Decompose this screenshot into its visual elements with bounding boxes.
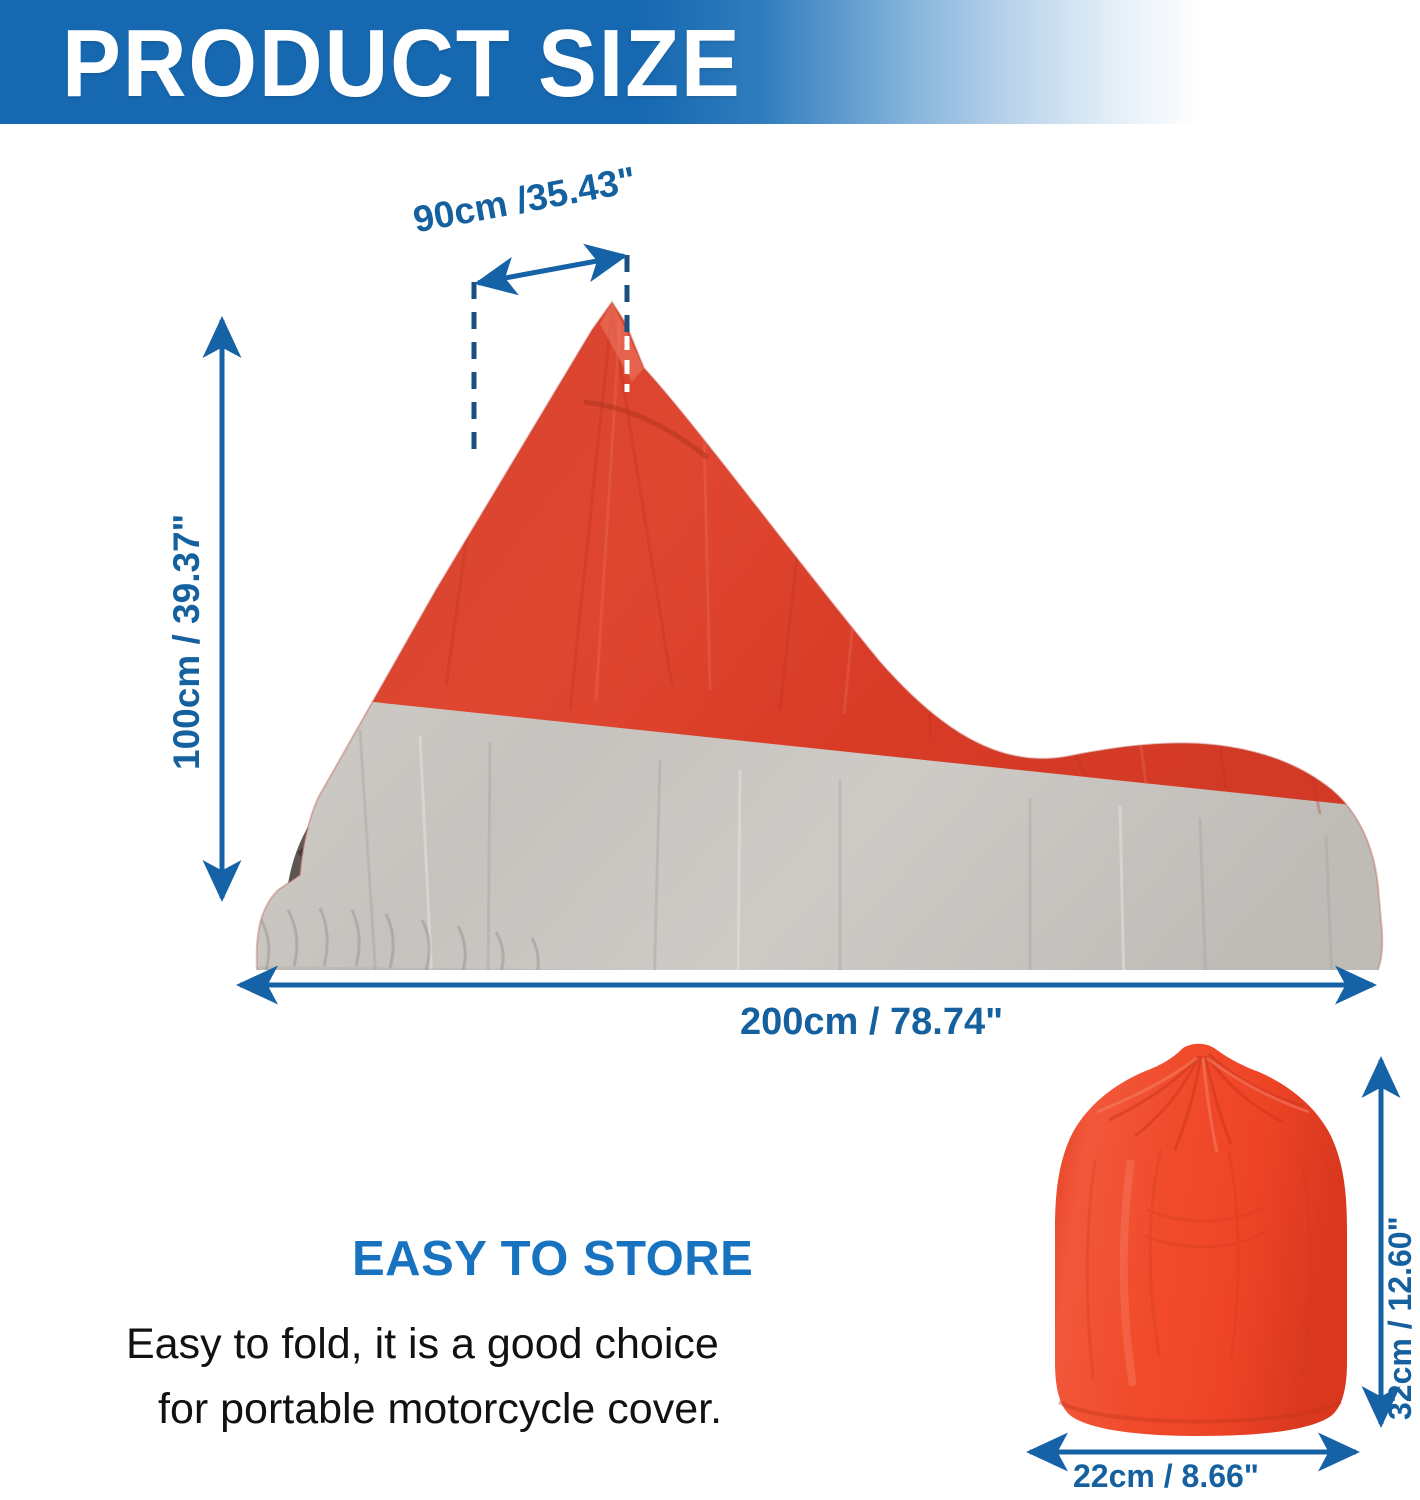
width-dimension-arrow-icon [478, 256, 624, 283]
bag-body [1055, 1044, 1347, 1436]
easy-to-store-line-1: Easy to fold, it is a good choice [126, 1320, 719, 1369]
bag-height-label: 32cm / 12.60" [1382, 1216, 1419, 1420]
product-size-infographic: PRODUCT SIZE [0, 0, 1420, 1500]
cover-svg [240, 290, 1400, 970]
easy-to-store-line-2: for portable motorcycle cover. [158, 1385, 722, 1434]
cover-height-label: 100cm / 39.37" [166, 514, 208, 770]
bag-width-label: 22cm / 8.66" [1073, 1458, 1259, 1495]
bag-svg [1035, 1040, 1365, 1440]
easy-to-store-heading: EASY TO STORE [352, 1231, 753, 1287]
motorcycle-cover-illustration [240, 290, 1400, 970]
cover-length-label: 200cm / 78.74" [740, 1001, 1003, 1044]
page-title: PRODUCT SIZE [62, 12, 742, 116]
header-banner: PRODUCT SIZE [0, 0, 1420, 124]
cover-width-label: 90cm /35.43" [410, 159, 639, 241]
storage-bag-illustration [1035, 1040, 1365, 1440]
